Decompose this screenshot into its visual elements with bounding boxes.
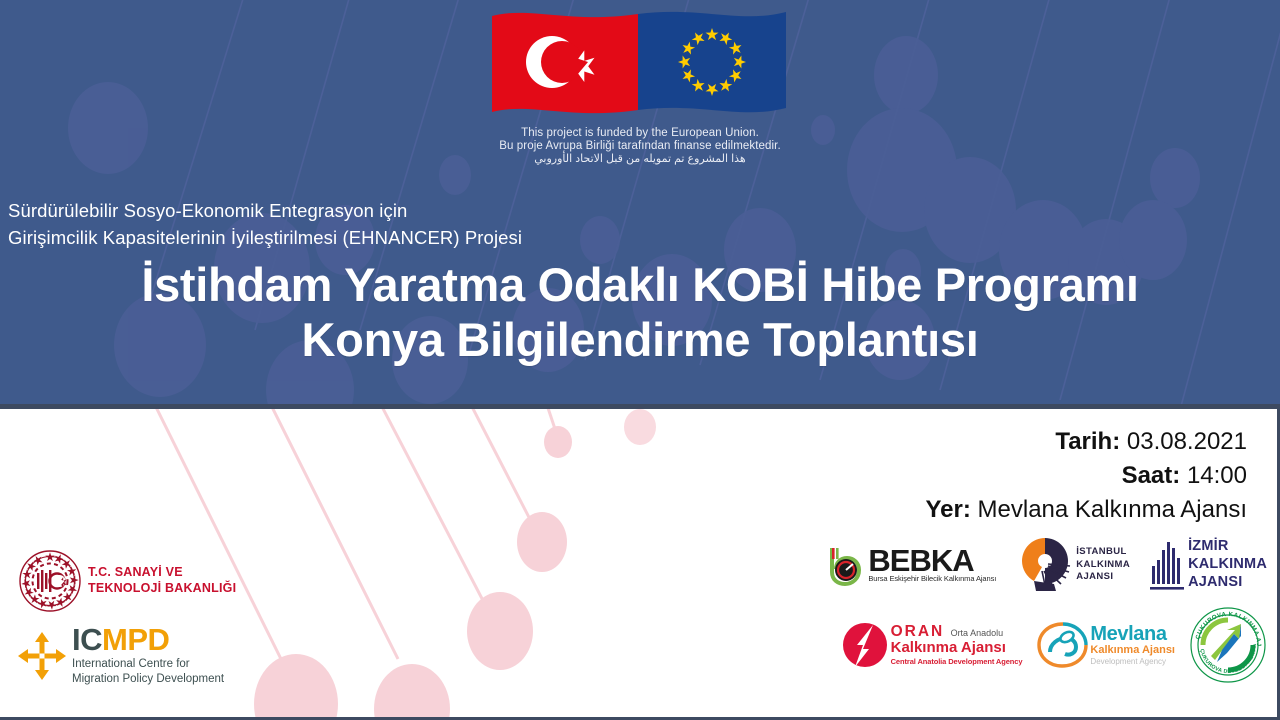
izka-line3: AJANSI <box>1188 574 1267 592</box>
poster-header: This project is funded by the European U… <box>0 0 1280 409</box>
bebka-mark-icon <box>822 542 868 588</box>
event-poster: This project is funded by the European U… <box>0 0 1280 720</box>
partner-logos-left: T.C. SANAYİ VE TEKNOLOJİ BAKANLIĞI ICMPD <box>8 549 298 686</box>
project-subtitle-line1: Sürdürülebilir Sosyo-Ekonomik Entegrasyo… <box>8 198 908 225</box>
ministry-logo-text: T.C. SANAYİ VE TEKNOLOJİ BAKANLIĞI <box>88 565 236 596</box>
page-title-line1: İstihdam Yaratma Odaklı KOBİ Hibe Progra… <box>0 258 1280 313</box>
mevlana-name: Mevlana <box>1090 624 1175 644</box>
event-place-label: Yer: <box>925 496 970 523</box>
oran-name: ORAN <box>891 623 945 640</box>
bebka-name: BEBKA <box>868 547 996 575</box>
istka-line1: İSTANBUL <box>1076 546 1130 559</box>
agency-logo-row-bottom: ORAN Orta Anadolu Kalkınma Ajansı Centra… <box>807 606 1267 684</box>
oran-line2: Kalkınma Ajansı <box>891 640 1023 657</box>
bebka-logo: BEBKA Bursa Eskişehir Bilecik Kalkınma A… <box>822 542 996 588</box>
poster-footer: Tarih: 03.08.2021 Saat: 14:00 Yer: Mevla… <box>0 409 1280 720</box>
istka-fan-icon <box>1014 534 1076 596</box>
istka-logo-text: İSTANBUL KALKINMA AJANSI <box>1076 546 1130 584</box>
partner-logos-right: BEBKA Bursa Eskişehir Bilecik Kalkınma A… <box>807 534 1267 684</box>
mevlana-logo-text: Mevlana Kalkınma Ajansı Development Agen… <box>1090 624 1175 666</box>
event-time-label: Saat: <box>1122 462 1181 489</box>
turkish-ministry-seal-icon <box>18 549 82 613</box>
cukurova-seal-icon: ÇUKUROVA KALKINMA AJANSI ÇUKUROVA DEVELO… <box>1189 606 1267 684</box>
eu-funding-block: This project is funded by the European U… <box>480 6 800 186</box>
istka-logo: İSTANBUL KALKINMA AJANSI <box>1014 534 1130 596</box>
istka-line2: KALKINMA <box>1076 559 1130 572</box>
icmpd-logo-text: ICMPD International Centre for Migration… <box>72 625 224 686</box>
project-subtitle-line2: Girişimcilik Kapasitelerinin İyileştiril… <box>8 225 908 252</box>
izka-line2: KALKINMA <box>1188 556 1267 574</box>
event-place-value: Mevlana Kalkınma Ajansı <box>978 496 1247 523</box>
mevlana-line2: Kalkınma Ajansı <box>1090 644 1175 657</box>
turkey-eu-flags-icon <box>490 6 790 126</box>
bebka-logo-text: BEBKA Bursa Eskişehir Bilecik Kalkınma A… <box>868 547 996 584</box>
icmpd-sub-line2: Migration Policy Development <box>72 672 224 687</box>
event-time-row: Saat: 14:00 <box>925 459 1247 493</box>
agency-logo-row-top: BEBKA Bursa Eskişehir Bilecik Kalkınma A… <box>807 534 1267 596</box>
izka-tower-icon <box>1148 536 1188 594</box>
page-title-line2: Konya Bilgilendirme Toplantısı <box>0 313 1280 368</box>
mevlana-swirl-icon <box>1036 620 1090 670</box>
icmpd-arrows-icon <box>16 630 68 682</box>
ministry-logo: T.C. SANAYİ VE TEKNOLOJİ BAKANLIĞI <box>18 549 298 613</box>
project-subtitle: Sürdürülebilir Sosyo-Ekonomik Entegrasyo… <box>8 198 908 252</box>
ministry-line2: TEKNOLOJİ BAKANLIĞI <box>88 581 236 597</box>
izka-line1: İZMİR <box>1188 538 1267 556</box>
funding-note-tr: Bu proje Avrupa Birliği tarafından finan… <box>480 140 800 153</box>
oran-mark-icon <box>839 619 891 671</box>
oran-logo: ORAN Orta Anadolu Kalkınma Ajansı Centra… <box>839 619 1023 671</box>
icmpd-word-ic: IC <box>72 622 102 657</box>
mevlana-line3: Development Agency <box>1090 657 1175 666</box>
event-date-label: Tarih: <box>1055 428 1120 455</box>
event-date-row: Tarih: 03.08.2021 <box>925 425 1247 459</box>
icmpd-word-mpd: MPD <box>102 622 169 657</box>
event-date-value: 03.08.2021 <box>1127 428 1247 455</box>
funding-note: This project is funded by the European U… <box>480 127 800 165</box>
izka-logo-text: İZMİR KALKINMA AJANSI <box>1188 538 1267 591</box>
bebka-tagline: Bursa Eskişehir Bilecik Kalkınma Ajansı <box>868 574 996 583</box>
icmpd-logo: ICMPD International Centre for Migration… <box>16 625 298 686</box>
oran-logo-text: ORAN Orta Anadolu Kalkınma Ajansı Centra… <box>891 624 1023 666</box>
ministry-line1: T.C. SANAYİ VE <box>88 565 236 581</box>
icmpd-sub-line1: International Centre for <box>72 657 224 672</box>
event-details: Tarih: 03.08.2021 Saat: 14:00 Yer: Mevla… <box>925 425 1247 527</box>
page-title: İstihdam Yaratma Odaklı KOBİ Hibe Progra… <box>0 258 1280 367</box>
oran-line3: Central Anatolia Development Agency <box>891 657 1023 666</box>
mevlana-logo: Mevlana Kalkınma Ajansı Development Agen… <box>1036 620 1175 670</box>
oran-region: Orta Anadolu <box>951 628 1004 638</box>
funding-note-en: This project is funded by the European U… <box>480 127 800 140</box>
istka-line3: AJANSI <box>1076 571 1130 584</box>
event-time-value: 14:00 <box>1187 462 1247 489</box>
cukurova-logo: ÇUKUROVA KALKINMA AJANSI ÇUKUROVA DEVELO… <box>1189 606 1267 684</box>
event-place-row: Yer: Mevlana Kalkınma Ajansı <box>925 493 1247 527</box>
funding-note-ar: هذا المشروع تم تمويله من قبل الاتحاد الأ… <box>480 153 800 165</box>
izka-logo: İZMİR KALKINMA AJANSI <box>1148 536 1267 594</box>
